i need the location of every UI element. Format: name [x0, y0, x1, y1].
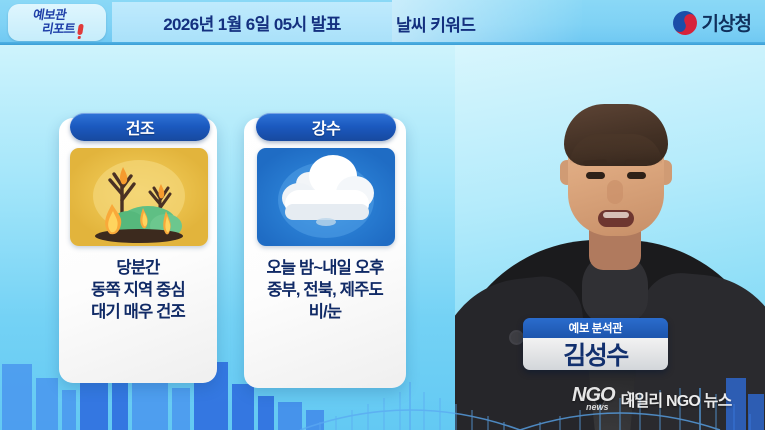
card-text-dry-line-2: 동쪽 지역 중심 [59, 280, 217, 302]
presenter-mouth [598, 210, 634, 227]
card-title-dry-label: 건조 [126, 115, 154, 139]
header-underline [0, 42, 765, 45]
presenter-eye-left [586, 172, 605, 179]
nameplate-role-label: 예보 분석관 [569, 320, 623, 336]
presenter-nameplate: 예보 분석관 김성수 [523, 318, 668, 370]
broadcast-date-chip: 2026년 1월 6일 05시 발표 [112, 2, 392, 43]
card-text-precipitation-line-2: 중부, 전북, 제주도 [244, 280, 406, 302]
presenter-video [455, 44, 765, 430]
wildfire-dry-trees-icon [70, 148, 208, 246]
card-title-precipitation: 강수 [256, 113, 396, 141]
broadcast-date-label: 2026년 1월 6일 05시 발표 [163, 10, 341, 35]
presenter-nose [607, 180, 623, 204]
presenter-eye-right [627, 172, 646, 179]
cloud-icon [257, 148, 395, 246]
channel-watermark: NGO news 데일리 NGO 뉴스 [572, 385, 732, 412]
ngo-logo-sub: news [586, 403, 609, 412]
presenter-hair [564, 104, 668, 166]
agency-name-label: 기상청 [702, 9, 751, 36]
broadcast-screen: 건조 강수 [0, 0, 765, 430]
nameplate-role: 예보 분석관 [523, 318, 668, 338]
broadcast-waves-icon [624, 388, 642, 406]
program-logo-line-2-text: 리포트 [41, 23, 76, 36]
ngo-news-logo: NGO news [572, 385, 615, 412]
microphone-icon [78, 24, 85, 35]
program-logo-line-1: 예보관 [32, 9, 67, 22]
card-title-precipitation-label: 강수 [312, 115, 340, 139]
card-text-dry-line-3: 대기 매우 건조 [59, 302, 217, 324]
section-title: 날씨 키워드 [396, 11, 475, 36]
top-header-bar: 예보관 리포트 2026년 1월 6일 05시 발표 날씨 키워드 기상청 [0, 0, 765, 44]
taegeuk-icon [668, 6, 701, 39]
card-text-precipitation-line-3: 비/눈 [244, 302, 406, 324]
card-text-precipitation: 오늘 밤~내일 오후 중부, 전북, 제주도 비/눈 [244, 258, 406, 324]
lapel-mic-icon [511, 332, 522, 343]
program-logo-line-2: 리포트 [41, 23, 84, 36]
nameplate-name-label: 김성수 [563, 336, 628, 370]
nameplate-name: 김성수 [523, 338, 668, 370]
agency-logo[interactable]: 기상청 [673, 9, 751, 36]
program-logo[interactable]: 예보관 리포트 [8, 4, 106, 41]
card-text-dry-line-1: 당분간 [59, 258, 217, 280]
card-title-dry: 건조 [70, 113, 210, 141]
card-text-precipitation-line-1: 오늘 밤~내일 오후 [244, 258, 406, 280]
card-text-dry: 당분간 동쪽 지역 중심 대기 매우 건조 [59, 258, 217, 324]
